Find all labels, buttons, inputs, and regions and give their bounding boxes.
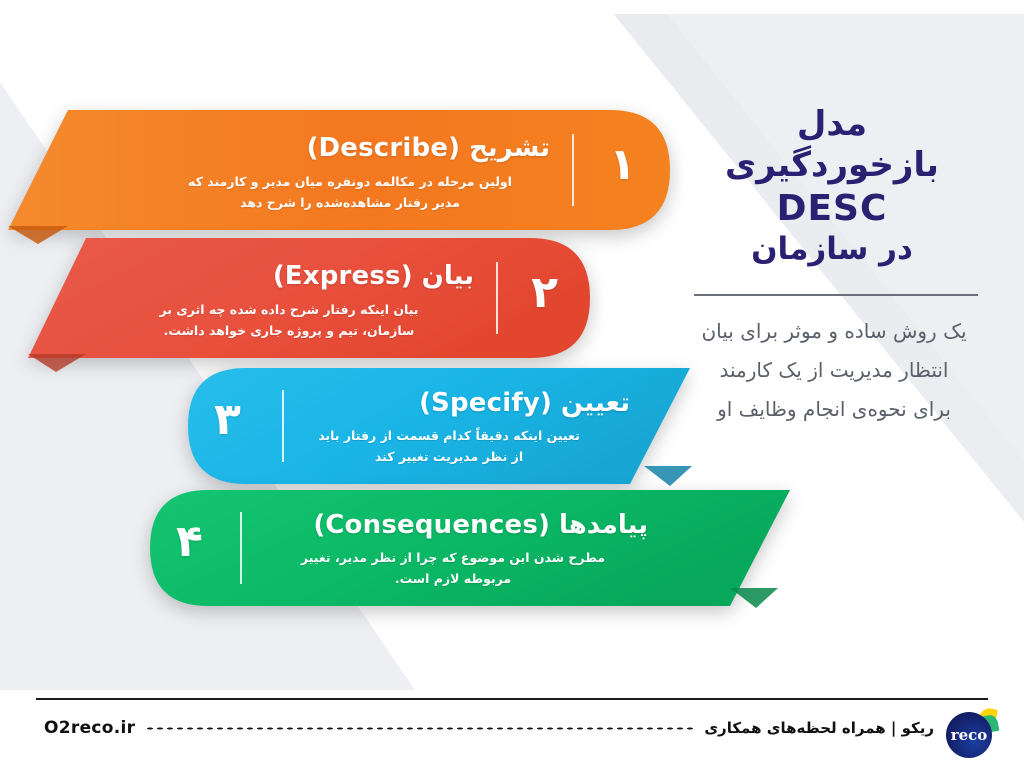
step-number-4: ۴: [176, 520, 203, 564]
step-number-2: ۲: [531, 271, 558, 315]
step-title-1: تشریح (Describe): [307, 135, 550, 161]
step-desc-line-4a: مطرح شدن این موضوع که چرا از نظر مدیر، ت…: [301, 550, 605, 565]
reco-logo[interactable]: reco: [946, 708, 998, 760]
logo-wordmark: reco: [946, 712, 992, 758]
page-title-line-2: DESC: [686, 187, 978, 231]
page-subtitle-line-1: یک روش ساده و موثر برای بیان: [684, 312, 984, 351]
step-desc-line-3a: تعیین اینکه دقیقاً کدام قسمت از رفتار با…: [318, 428, 580, 443]
step-desc-line-1b: مدیر رفتار مشاهده‌شده را شرح دهد: [240, 195, 460, 210]
step-fold-4: [700, 588, 810, 614]
footer-tagline: ریکو | همراه لحظه‌های همکاری: [704, 719, 934, 737]
page-subtitle-line-3: برای نحوه‌ی انجام وظایف او: [684, 390, 984, 429]
infographic-canvas: ۱ تشریح (Describe) اولین مرحله در مکالمه…: [0, 0, 1024, 768]
footer-website-link[interactable]: O2reco.ir: [44, 718, 135, 738]
page-subtitle: یک روش ساده و موثر برای بیان انتظار مدیر…: [684, 312, 984, 429]
step-title-4: پیامدها (Consequences): [313, 512, 648, 538]
step-fold-2: [28, 354, 148, 376]
step-banner-1[interactable]: ۱ تشریح (Describe) اولین مرحله در مکالمه…: [8, 110, 670, 230]
step-desc-2: بیان اینکه رفتار شرح داده شده چه اثری بر…: [94, 300, 484, 341]
step-banner-2[interactable]: ۲ بیان (Express) بیان اینکه رفتار شرح دا…: [28, 238, 590, 358]
step-number-1: ۱: [609, 143, 636, 187]
step-desc-1: اولین مرحله در مکالمه دونفره میان مدیر و…: [140, 172, 560, 213]
step-divider-1: [572, 134, 574, 206]
title-divider-rule: [694, 294, 978, 296]
step-desc-3: تعیین اینکه دقیقاً کدام قسمت از رفتار با…: [254, 426, 644, 467]
step-desc-4: مطرح شدن این موضوع که چرا از نظر مدیر، ت…: [248, 548, 658, 589]
step-title-3: تعیین (Specify): [419, 390, 630, 416]
step-fold-3: [600, 466, 710, 492]
page-title-line-1: مدل بازخوردگیری: [686, 104, 978, 187]
page-title: مدل بازخوردگیری DESC در سازمان: [686, 104, 978, 269]
page-subtitle-line-2: انتظار مدیریت از یک کارمند: [684, 351, 984, 390]
footer: O2reco.ir ریکو | همراه لحظه‌های همکاری r…: [0, 690, 1024, 768]
step-banner-4[interactable]: ۴ پیامدها (Consequences) مطرح شدن این مو…: [150, 490, 790, 606]
background-top-strip: [0, 0, 1024, 14]
step-desc-line-2b: سازمان، تیم و پروژه جاری خواهد داشت.: [164, 323, 415, 338]
step-number-3: ۳: [214, 398, 241, 442]
step-title-2: بیان (Express): [273, 263, 474, 289]
step-desc-line-1a: اولین مرحله در مکالمه دونفره میان مدیر و…: [188, 174, 512, 189]
step-divider-2: [496, 262, 498, 334]
step-desc-line-2a: بیان اینکه رفتار شرح داده شده چه اثری بر: [159, 302, 418, 317]
step-desc-line-4b: مربوطه لازم است.: [395, 571, 511, 586]
footer-content: O2reco.ir ریکو | همراه لحظه‌های همکاری: [44, 718, 934, 738]
footer-dotted-line: [145, 727, 694, 730]
step-desc-line-3b: از نظر مدیریت تغییر کند: [375, 449, 523, 464]
step-divider-4: [240, 512, 242, 584]
footer-rule: [36, 698, 988, 700]
page-title-line-3: در سازمان: [686, 231, 978, 269]
